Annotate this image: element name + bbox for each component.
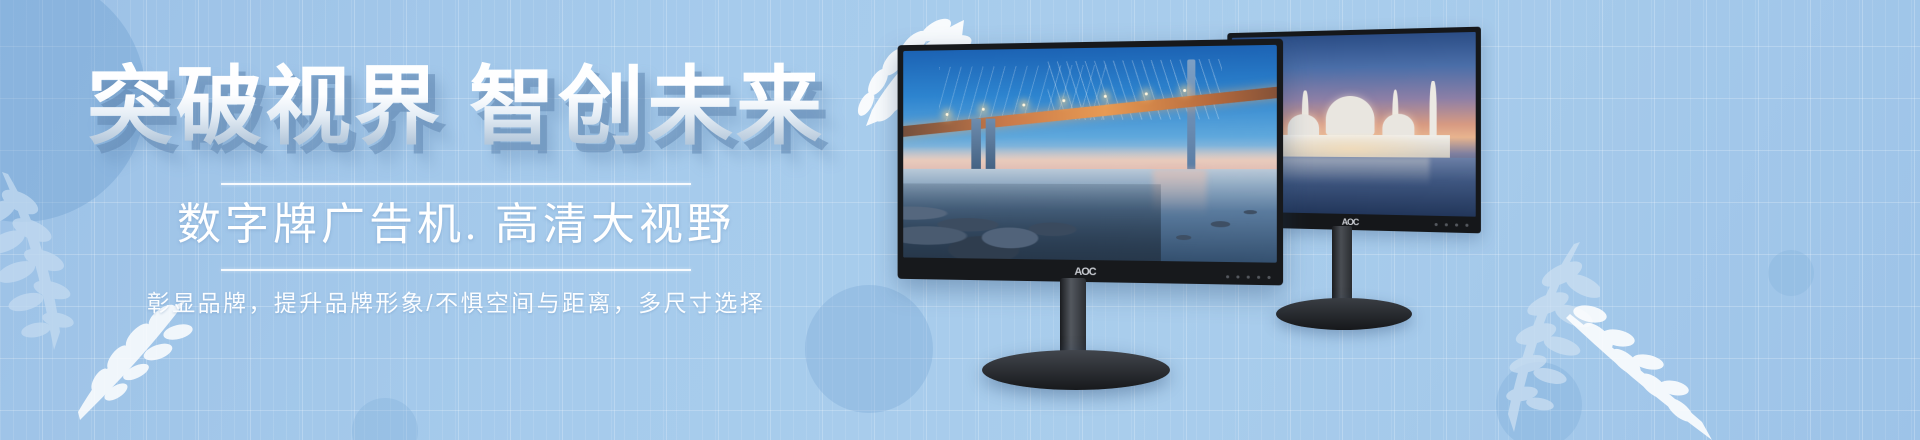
monitor-front-stand-base bbox=[982, 350, 1170, 390]
divider-rule-top bbox=[221, 183, 691, 185]
monitor-front-buttons bbox=[1226, 275, 1270, 279]
promo-banner: 突破视界智创未来 数字牌广告机. 高清大视野 彰显品牌，提升品牌形象/不惧空间与… bbox=[0, 0, 1920, 440]
decorative-circle bbox=[352, 398, 418, 440]
aoc-logo-front: AOC bbox=[1074, 266, 1095, 278]
monitor-back-stand-base bbox=[1276, 298, 1412, 330]
banner-headline: 突破视界智创未来 bbox=[0, 62, 912, 153]
bridge-scene-image bbox=[903, 45, 1277, 263]
monitor-front-panel: AOC bbox=[898, 39, 1283, 286]
banner-tagline: 彰显品牌，提升品牌形象/不惧空间与距离，多尺寸选择 bbox=[0, 287, 912, 319]
headline-part-2: 智创未来 bbox=[469, 59, 825, 155]
banner-text-block: 突破视界智创未来 数字牌广告机. 高清大视野 彰显品牌，提升品牌形象/不惧空间与… bbox=[0, 62, 912, 319]
monitor-front-screen bbox=[903, 45, 1277, 263]
product-group: AOC bbox=[880, 0, 1920, 440]
monitor-back-buttons bbox=[1435, 223, 1469, 227]
headline-part-1: 突破视界 bbox=[87, 59, 443, 155]
divider-rule-bottom bbox=[221, 269, 691, 271]
banner-subtitle: 数字牌广告机. 高清大视野 bbox=[0, 195, 912, 254]
monitor-front: AOC bbox=[890, 42, 1280, 382]
monitor-back-stand-neck bbox=[1332, 226, 1352, 306]
